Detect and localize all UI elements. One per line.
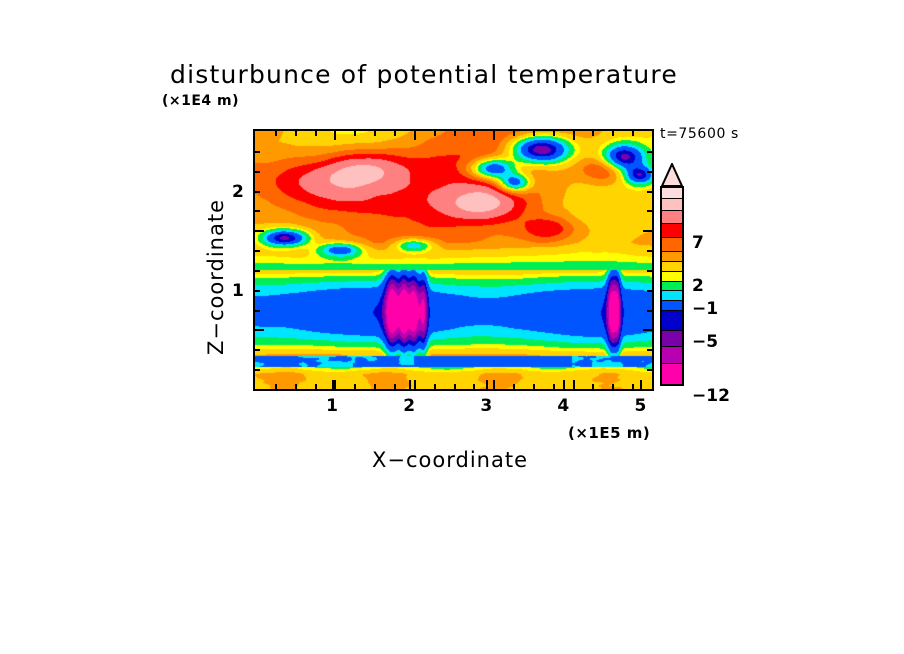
x-axis-tick-top	[434, 131, 436, 136]
contour-plot-area	[253, 129, 654, 391]
contour-field-canvas	[255, 131, 652, 389]
x-axis-tick	[315, 384, 317, 389]
x-axis-tick-top	[533, 131, 535, 136]
x-axis-tick-top	[414, 131, 416, 140]
colorbar-tick-label: 7	[692, 233, 704, 253]
colorbar-tick-label: −1	[692, 299, 718, 319]
y-axis-tick-label: 2	[232, 182, 244, 202]
x-axis-tick	[394, 384, 396, 389]
x-axis-tick	[295, 384, 297, 389]
x-axis-major-tick	[486, 380, 488, 389]
x-axis-tick	[434, 384, 436, 389]
x-axis-tick	[473, 384, 475, 389]
x-axis-tick	[334, 380, 336, 389]
page-title: disturbunce of potential temperature	[170, 60, 750, 89]
y-axis-tick-right	[647, 191, 652, 193]
x-axis-tick	[553, 384, 555, 389]
x-axis-tick-top	[632, 131, 634, 136]
x-axis-tick-top	[275, 131, 277, 136]
x-axis-tick-top	[334, 131, 336, 140]
y-axis-title: Z−coordinate	[204, 95, 228, 355]
colorbar-band	[662, 224, 682, 238]
x-axis-tick	[493, 380, 495, 389]
colorbar-arrow-cap	[660, 163, 684, 187]
x-axis-tick-top	[315, 131, 317, 136]
y-axis-tick	[255, 191, 260, 193]
y-axis-tick	[255, 210, 260, 212]
y-axis-tick	[255, 310, 260, 312]
x-axis-tick	[275, 384, 277, 389]
x-axis-tick-label: 3	[480, 396, 492, 416]
y-axis-tick-right	[643, 329, 652, 331]
x-axis-tick	[374, 384, 376, 389]
x-axis-tick-top	[394, 131, 396, 136]
y-axis-tick	[255, 151, 260, 153]
y-axis-tick-right	[647, 290, 652, 292]
x-axis-tick	[533, 384, 535, 389]
figure-root: disturbunce of potential temperature (×1…	[0, 0, 904, 654]
x-axis-major-tick	[563, 380, 565, 389]
y-axis-tick-right	[647, 349, 652, 351]
colorbar-band	[662, 331, 682, 348]
colorbar-tick-label: −12	[692, 386, 730, 406]
x-axis-tick-top	[473, 131, 475, 136]
colorbar-tick-label: 2	[692, 276, 704, 296]
x-axis-tick-label: 5	[635, 396, 647, 416]
x-axis-tick-top	[513, 131, 515, 136]
y-axis-tick-right	[647, 270, 652, 272]
y-axis-tick	[255, 270, 260, 272]
y-axis-tick-right	[647, 369, 652, 371]
y-axis-tick	[255, 171, 260, 173]
colorbar-band	[662, 364, 682, 384]
y-axis-tick-right	[647, 171, 652, 173]
x-axis-tick	[354, 384, 356, 389]
colorbar-band	[662, 238, 682, 252]
x-axis-tick-top	[612, 131, 614, 136]
colorbar-band	[662, 311, 682, 331]
y-axis-tick-right	[647, 310, 652, 312]
y-axis-tick	[255, 349, 260, 351]
x-axis-tick-top	[493, 131, 495, 140]
y-axis-tick	[255, 290, 260, 292]
colorbar-tick-label: −5	[692, 332, 718, 352]
y-axis-tick	[255, 250, 260, 252]
colorbar	[660, 186, 684, 386]
y-axis-tick-label: 1	[232, 281, 244, 301]
y-axis-tick-right	[643, 230, 652, 232]
x-axis-major-tick	[640, 380, 642, 389]
x-axis-title: X−coordinate	[372, 448, 528, 472]
x-axis-tick	[632, 384, 634, 389]
y-axis-tick-right	[647, 210, 652, 212]
colorbar-band	[662, 347, 682, 364]
x-axis-tick	[612, 384, 614, 389]
x-axis-tick-top	[374, 131, 376, 136]
y-axis-tick	[255, 329, 264, 331]
x-axis-tick-label: 2	[403, 396, 415, 416]
y-axis-tick-right	[647, 151, 652, 153]
x-axis-unit-label: (×1E5 m)	[568, 424, 650, 442]
x-axis-tick	[513, 384, 515, 389]
x-axis-tick	[592, 384, 594, 389]
x-axis-tick-top	[573, 131, 575, 140]
y-axis-tick	[255, 369, 260, 371]
y-axis-tick	[255, 230, 264, 232]
x-axis-tick	[454, 384, 456, 389]
x-axis-tick-top	[454, 131, 456, 136]
x-axis-tick-top	[295, 131, 297, 136]
timestamp-annotation: t=75600 s	[660, 126, 739, 142]
x-axis-major-tick	[409, 380, 411, 389]
x-axis-tick-top	[592, 131, 594, 136]
x-axis-major-tick	[332, 380, 334, 389]
x-axis-tick-top	[354, 131, 356, 136]
x-axis-tick-label: 1	[326, 396, 338, 416]
y-axis-tick-right	[647, 250, 652, 252]
x-axis-tick-top	[553, 131, 555, 136]
x-axis-tick	[573, 380, 575, 389]
x-axis-tick	[414, 380, 416, 389]
x-axis-tick-label: 4	[557, 396, 569, 416]
